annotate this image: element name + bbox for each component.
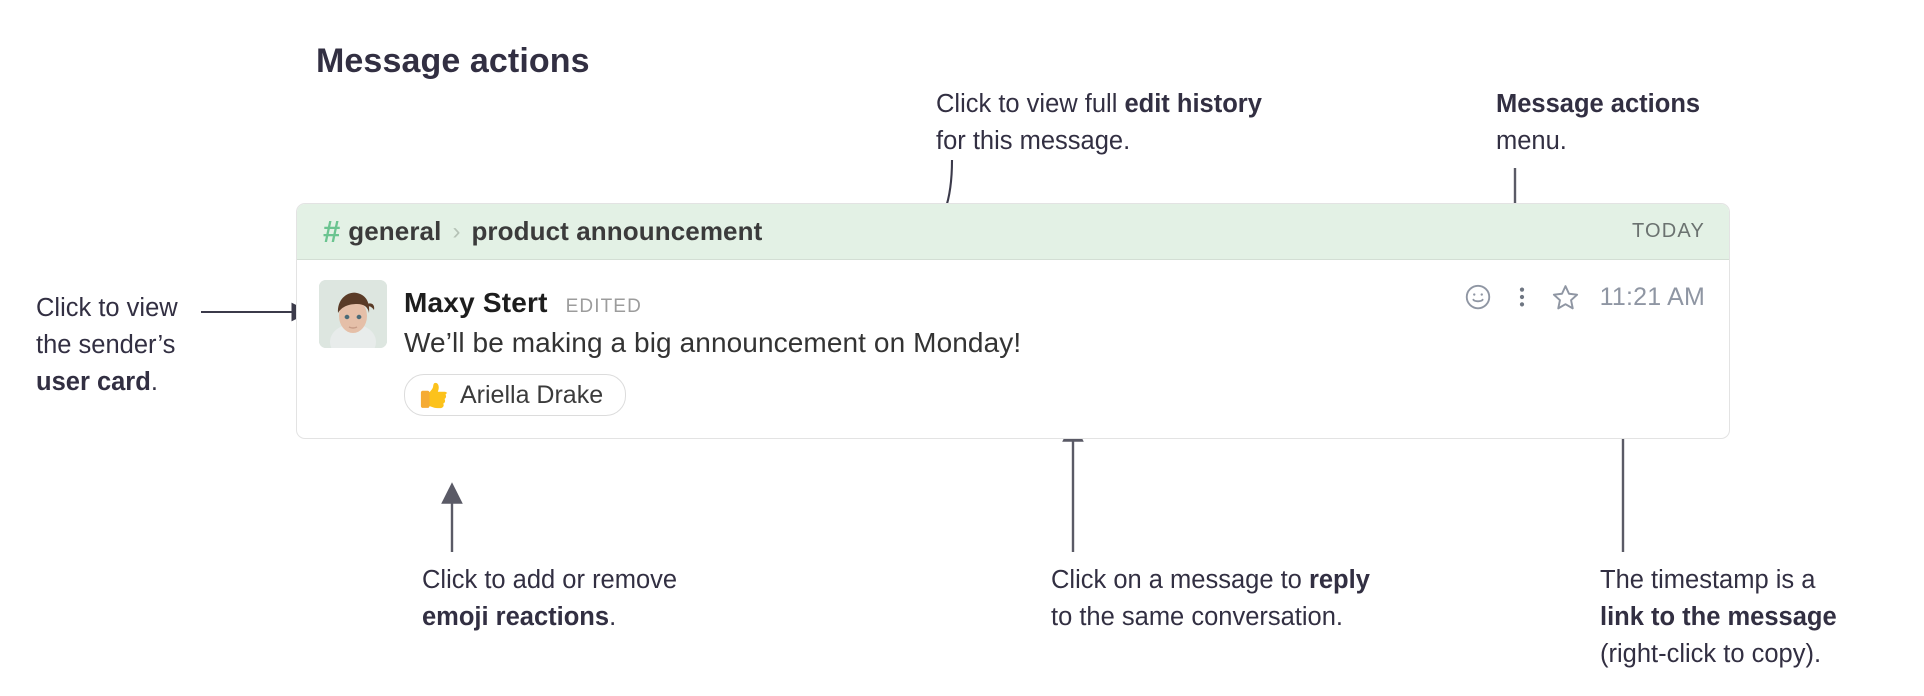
sender-name[interactable]: Maxy Stert (404, 287, 548, 319)
annotation-reply: Click on a message to reply to the same … (1051, 562, 1370, 636)
annotation-actions-menu-line2: menu. (1496, 123, 1700, 160)
message-main: Maxy Stert EDITED (404, 280, 1705, 416)
annotation-user-card-line3-bold: user card (36, 368, 151, 396)
reaction-pill[interactable]: Ariella Drake (404, 374, 626, 416)
annotation-reply-line1-prefix: Click on a message to (1051, 566, 1309, 594)
annotation-user-card-line1: Click to view (36, 290, 178, 327)
reaction-label: Ariella Drake (460, 381, 603, 410)
message-actions-menu-icon[interactable] (1500, 280, 1544, 314)
annotation-edit-history-line1-bold: edit history (1124, 90, 1261, 118)
message-body[interactable]: We’ll be making a big announcement on Mo… (404, 325, 1705, 360)
annotation-reply-line1-bold: reply (1309, 566, 1370, 594)
stream-name[interactable]: general (348, 216, 441, 247)
annotation-emoji-reactions: Click to add or remove emoji reactions. (422, 562, 677, 636)
annotation-actions-menu: Message actions menu. (1496, 86, 1700, 160)
message-row: Maxy Stert EDITED (297, 260, 1729, 438)
annotation-timestamp-line3: (right-click to copy). (1600, 636, 1837, 673)
message-card: # general › product announcement TODAY M… (296, 203, 1730, 439)
annotation-edit-history-line2: for this message. (936, 123, 1262, 160)
annotation-emoji-reactions-line2-bold: emoji reactions (422, 603, 609, 631)
annotation-user-card-line3-suffix: . (151, 368, 158, 396)
hash-icon: # (323, 216, 339, 247)
annotation-emoji-reactions-line2-suffix: . (609, 603, 616, 631)
annotation-edit-history-line1-prefix: Click to view full (936, 90, 1124, 118)
chevron-right-icon: › (452, 218, 460, 246)
message-headline: Maxy Stert EDITED (404, 280, 1705, 314)
star-icon[interactable] (1544, 280, 1588, 314)
annotation-timestamp-line2-bold: link to the message (1600, 603, 1837, 631)
thumbs-up-icon (419, 380, 449, 410)
topic-name[interactable]: product announcement (471, 216, 762, 247)
avatar-photo (319, 280, 387, 348)
annotation-timestamp: The timestamp is a link to the message (… (1600, 562, 1837, 673)
annotation-reply-line2: to the same conversation. (1051, 599, 1370, 636)
card-header: # general › product announcement TODAY (297, 204, 1729, 260)
date-label: TODAY (1632, 220, 1705, 243)
annotation-emoji-reactions-line1: Click to add or remove (422, 562, 677, 599)
emoji-reaction-icon[interactable] (1456, 280, 1500, 314)
annotation-actions-menu-line1-bold: Message actions (1496, 90, 1700, 118)
annotation-user-card-line2: the sender’s (36, 327, 178, 364)
message-timestamp[interactable]: 11:21 AM (1600, 283, 1705, 312)
message-actions: 11:21 AM (1456, 280, 1705, 314)
reactions-row: Ariella Drake (404, 374, 1705, 416)
annotation-user-card: Click to view the sender’s user card. (36, 290, 178, 401)
edited-tag[interactable]: EDITED (566, 296, 642, 318)
avatar[interactable] (319, 280, 387, 348)
annotation-timestamp-line1: The timestamp is a (1600, 562, 1837, 599)
annotation-edit-history: Click to view full edit history for this… (936, 86, 1262, 160)
page-title: Message actions (316, 42, 590, 81)
